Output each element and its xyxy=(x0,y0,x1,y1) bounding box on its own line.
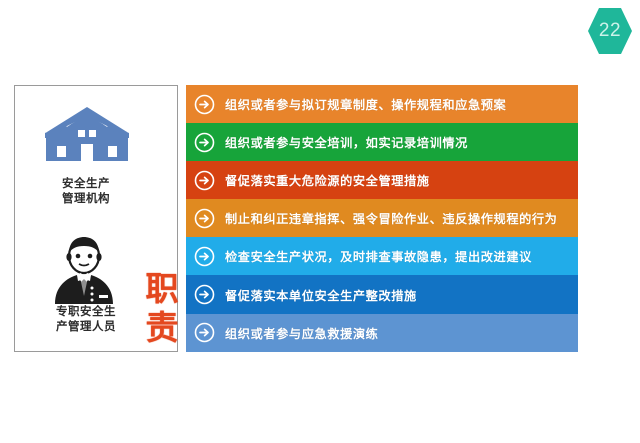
left-subject-panel: 安全生产 管理机构 xyxy=(14,85,178,352)
page-number-label: 22 xyxy=(588,8,632,54)
org-label-line2: 管理机构 xyxy=(21,191,151,206)
org-label-line1: 安全生产 xyxy=(21,176,151,191)
org-label: 安全生产 管理机构 xyxy=(21,176,151,206)
duty-row[interactable]: 检查安全生产状况，及时排查事故隐患，提出改进建议 xyxy=(186,237,578,275)
arrow-right-circle-icon xyxy=(194,322,215,343)
duty-row[interactable]: 督促落实本单位安全生产整改措施 xyxy=(186,275,578,313)
duty-heading: 职 责 xyxy=(139,269,185,347)
arrow-right-circle-icon xyxy=(194,284,215,305)
arrow-right-circle-icon xyxy=(194,246,215,267)
slide-canvas: 22 xyxy=(0,0,640,443)
duty-row-label: 组织或者参与应急救援演练 xyxy=(225,324,378,342)
person-in-suit-icon xyxy=(47,234,121,304)
duty-row[interactable]: 督促落实重大危险源的安全管理措施 xyxy=(186,161,578,199)
duty-row-label: 制止和纠正违章指挥、强令冒险作业、违反操作规程的行为 xyxy=(225,209,557,227)
person-label: 专职安全生 产管理人员 xyxy=(19,304,153,334)
person-label-line2: 产管理人员 xyxy=(19,319,153,334)
duty-list: 组织或者参与拟订规章制度、操作规程和应急预案组织或者参与安全培训，如实记录培训情… xyxy=(186,85,578,352)
page-number-badge: 22 xyxy=(588,8,632,54)
duty-row-label: 组织或者参与安全培训，如实记录培训情况 xyxy=(225,133,468,151)
building-icon xyxy=(41,104,133,170)
duty-heading-char2: 责 xyxy=(139,308,185,347)
arrow-right-circle-icon xyxy=(194,132,215,153)
arrow-right-circle-icon xyxy=(194,208,215,229)
duty-row-label: 组织或者参与拟订规章制度、操作规程和应急预案 xyxy=(225,95,506,113)
duty-heading-char1: 职 xyxy=(139,269,185,308)
arrow-right-circle-icon xyxy=(194,94,215,115)
arrow-right-circle-icon xyxy=(194,170,215,191)
duty-row[interactable]: 组织或者参与应急救援演练 xyxy=(186,314,578,352)
duty-row[interactable]: 组织或者参与拟订规章制度、操作规程和应急预案 xyxy=(186,85,578,123)
duty-row-label: 检查安全生产状况，及时排查事故隐患，提出改进建议 xyxy=(225,247,532,265)
person-label-line1: 专职安全生 xyxy=(19,304,153,319)
duty-row-label: 督促落实本单位安全生产整改措施 xyxy=(225,286,417,304)
duty-row-label: 督促落实重大危险源的安全管理措施 xyxy=(225,171,430,189)
duty-row[interactable]: 制止和纠正违章指挥、强令冒险作业、违反操作规程的行为 xyxy=(186,199,578,237)
duty-row[interactable]: 组织或者参与安全培训，如实记录培训情况 xyxy=(186,123,578,161)
